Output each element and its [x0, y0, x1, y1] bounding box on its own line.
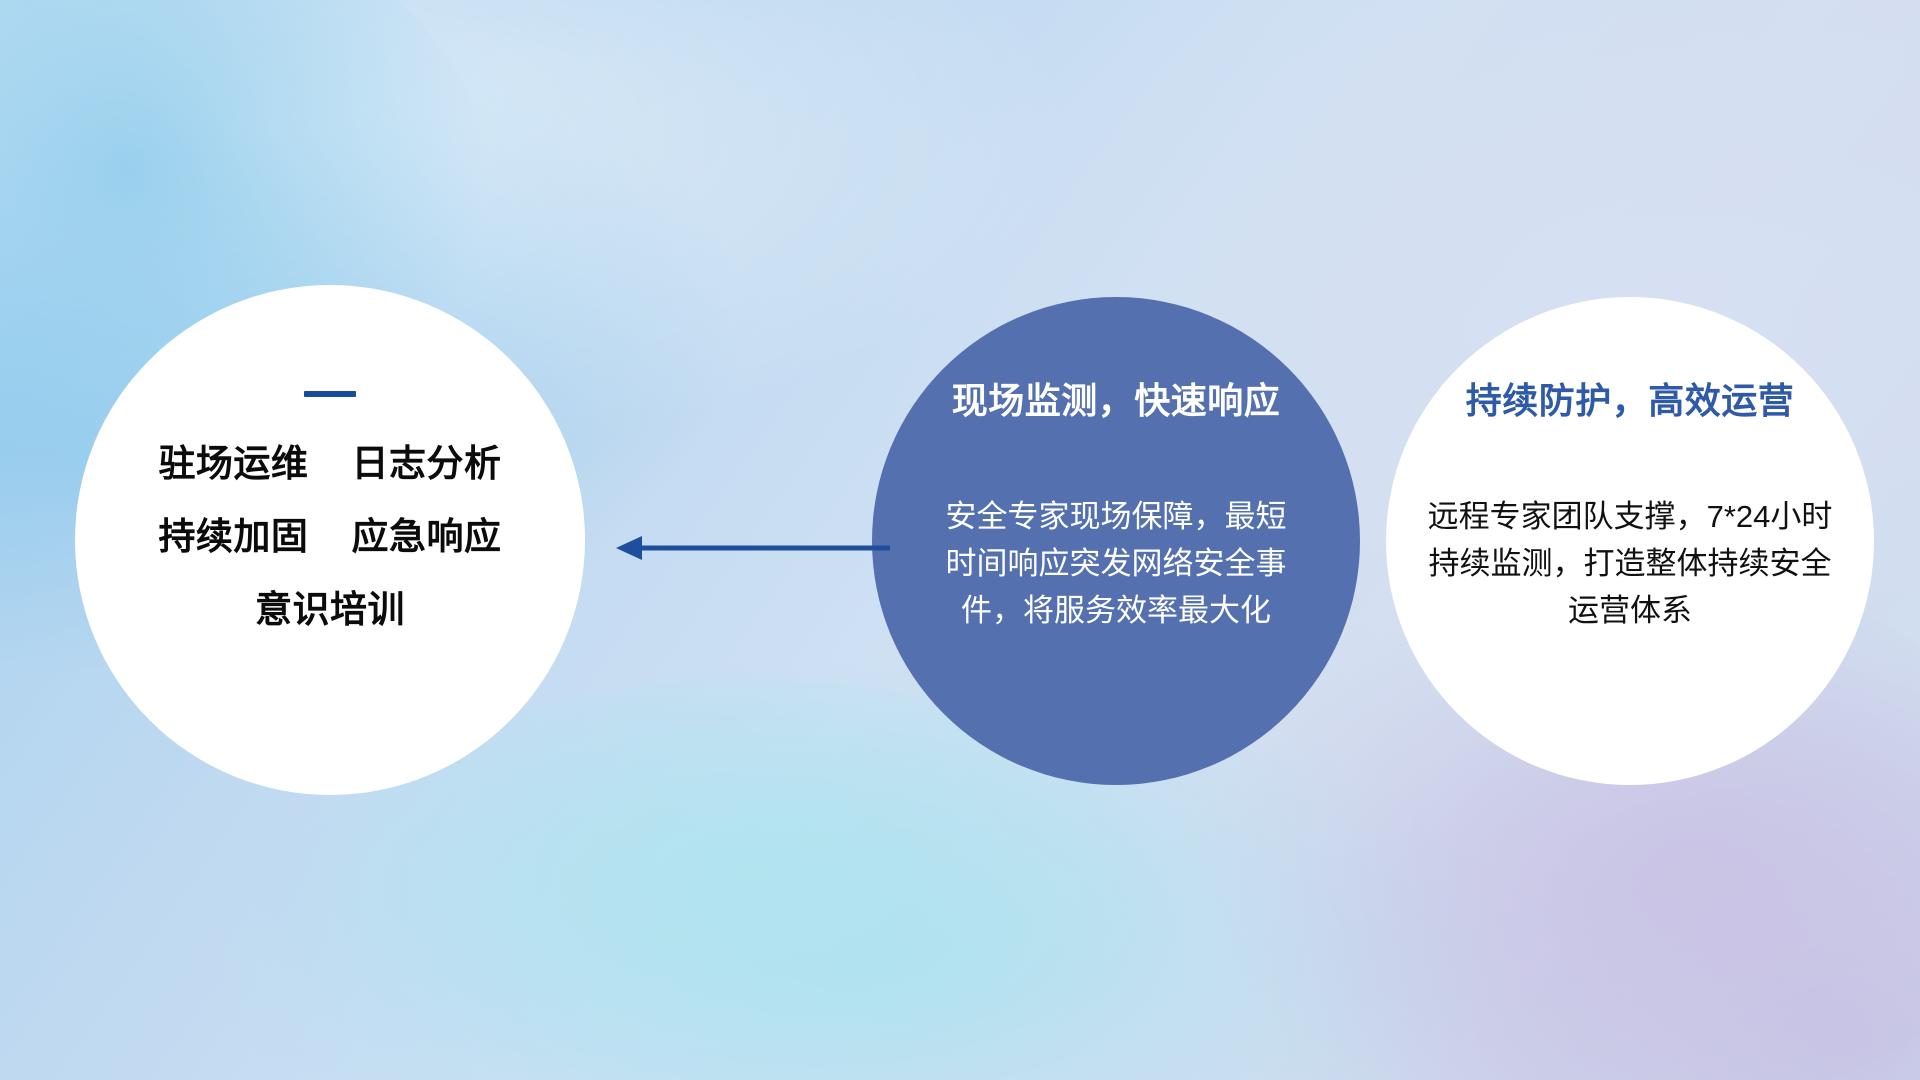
middle-circle-content: 现场监测，快速响应 安全专家现场保障，最短时间响应突发网络安全事件，将服务效率最…: [914, 381, 1318, 634]
capability-line-1: 驻场运维 日志分析: [100, 445, 560, 482]
continuous-protection-title: 持续防护，高效运营: [1420, 381, 1840, 421]
left-circle-content: 驻场运维 日志分析 持续加固 应急响应 意识培训: [100, 391, 560, 628]
service-capabilities-circle[interactable]: 驻场运维 日志分析 持续加固 应急响应 意识培训: [75, 285, 585, 795]
capability-line-3: 意识培训: [100, 591, 560, 628]
continuous-protection-body: 远程专家团队支撑，7*24小时持续监测，打造整体持续安全运营体系: [1424, 493, 1836, 634]
capability-line-2: 持续加固 应急响应: [100, 518, 560, 555]
onsite-monitoring-body: 安全专家现场保障，最短时间响应突发网络安全事件，将服务效率最大化: [936, 493, 1296, 634]
continuous-protection-circle[interactable]: 持续防护，高效运营 远程专家团队支撑，7*24小时持续监测，打造整体持续安全运营…: [1386, 297, 1874, 785]
slide-canvas: 驻场运维 日志分析 持续加固 应急响应 意识培训 现场监测，快速响应 安全专家现…: [0, 0, 1920, 1080]
leftward-flow-arrow-icon: [612, 520, 892, 576]
onsite-monitoring-title: 现场监测，快速响应: [914, 381, 1318, 421]
right-circle-content: 持续防护，高效运营 远程专家团队支撑，7*24小时持续监测，打造整体持续安全运营…: [1420, 381, 1840, 634]
divider-dash-icon: [304, 391, 356, 397]
onsite-monitoring-circle[interactable]: 现场监测，快速响应 安全专家现场保障，最短时间响应突发网络安全事件，将服务效率最…: [872, 297, 1360, 785]
